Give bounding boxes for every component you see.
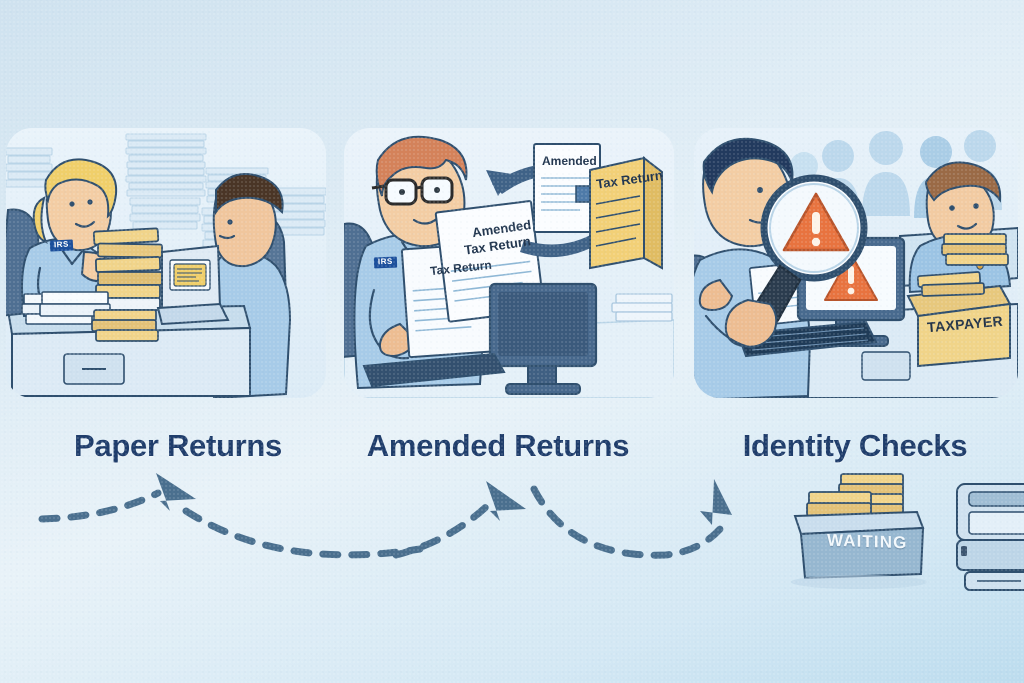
arrow-step1-to-step2-dashes [42,493,158,519]
panel-amended-returns: IRS Tax Return Amended Tax Return Amende… [344,128,674,398]
waiting-bin-label: WAITING [827,531,907,554]
identity-checks-illustration [694,128,1018,398]
arrow-step1-to-step2-head [156,473,196,511]
arrow-step2-head [486,481,526,521]
irs-badge-panel2: IRS [374,257,397,269]
illustration-canvas: IRS [0,0,1024,683]
printer-illustration [955,480,1024,605]
waiting-bin-illustration [775,470,965,590]
panel-identity-checks: TAXPAYER [694,128,1018,398]
paper-returns-illustration [6,128,326,398]
irs-badge-panel1: IRS [50,239,73,251]
office-printer [955,480,1024,605]
waiting-bin: WAITING [775,470,965,590]
arrow-step2-to-step3-head [700,479,732,525]
arrow-mid-dashes [186,511,420,555]
arrow-step2-approach-dashes [396,505,488,555]
arrow-step2-to-step3-dashes [534,489,720,555]
panel-paper-returns: IRS [6,128,326,398]
